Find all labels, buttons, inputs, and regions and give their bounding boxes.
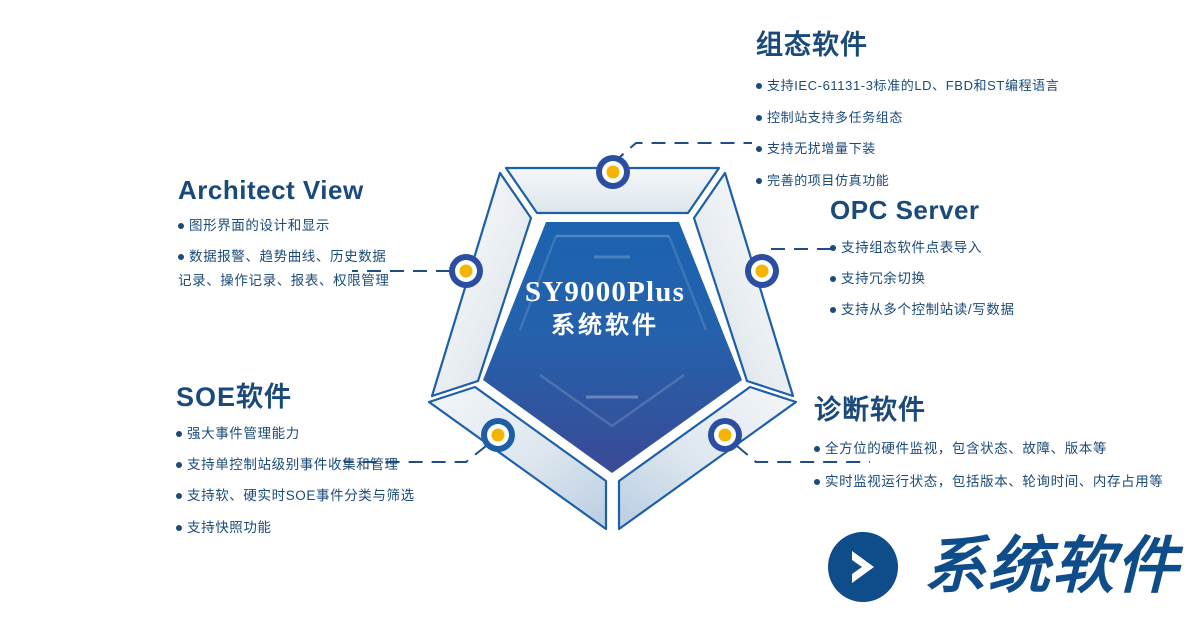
bullet-item: 支持从多个控制站读/写数据 — [830, 301, 1015, 319]
bullet-dot-icon — [830, 276, 836, 282]
bullet-item: 支持无扰增量下装 — [756, 140, 1059, 158]
bullet-text: 支持无扰增量下装 — [767, 140, 876, 158]
bullet-text: 全方位的硬件监视，包含状态、故障、版本等 — [825, 440, 1107, 458]
bullet-text: 支持从多个控制站读/写数据 — [841, 301, 1015, 319]
node-bottom-right[interactable] — [708, 418, 742, 452]
feature-bullets-opc: 支持组态软件点表导入 支持冗余切换 支持从多个控制站读/写数据 — [830, 239, 1015, 320]
bullet-dot-icon — [176, 462, 182, 468]
bullet-text: 强大事件管理能力 — [187, 425, 300, 443]
bullet-text-line1: 数据报警、趋势曲线、历史数据 — [189, 249, 386, 264]
bullet-dot-icon — [830, 245, 836, 251]
bullet-text: 支持软、硬实时SOE事件分类与筛选 — [187, 487, 415, 505]
bullet-item: 控制站支持多任务组态 — [756, 109, 1059, 127]
bullet-item: 完善的项目仿真功能 — [756, 172, 1059, 190]
bullet-dot-icon — [756, 115, 762, 121]
bullet-dot-icon — [176, 431, 182, 437]
bullet-dot-icon — [756, 83, 762, 89]
bullet-text: 支持单控制站级别事件收集和管理 — [187, 456, 399, 474]
bullet-item: 支持软、硬实时SOE事件分类与筛选 — [176, 487, 415, 505]
bullet-item: 全方位的硬件监视，包含状态、故障、版本等 — [814, 440, 1163, 458]
bullet-dot-icon — [814, 446, 820, 452]
connector-top — [613, 143, 752, 163]
bullet-item: 支持IEC-61131-3标准的LD、FBD和ST编程语言 — [756, 77, 1059, 95]
bullet-item: 支持单控制站级别事件收集和管理 — [176, 456, 415, 474]
brand-logo-text: 系统软件 — [924, 536, 1180, 598]
bullet-text: 支持IEC-61131-3标准的LD、FBD和ST编程语言 — [767, 77, 1059, 95]
bullet-text: 实时监视运行状态，包括版本、轮询时间、内存占用等 — [825, 473, 1163, 491]
bullet-item: 数据报警、趋势曲线、历史数据 记录、操作记录、报表、权限管理 — [178, 248, 390, 290]
feature-title-hmi: 组态软件 — [756, 32, 1059, 59]
feature-block-diagnostic: 诊断软件 全方位的硬件监视，包含状态、故障、版本等 实时监视运行状态，包括版本、… — [814, 397, 1163, 506]
feature-bullets-hmi: 支持IEC-61131-3标准的LD、FBD和ST编程语言 控制站支持多任务组态… — [756, 77, 1059, 189]
feature-bullets-diagnostic: 全方位的硬件监视，包含状态、故障、版本等 实时监视运行状态，包括版本、轮询时间、… — [814, 440, 1163, 491]
feature-title-soe: SOE软件 — [176, 384, 415, 411]
feature-title-architect: Architect View — [178, 177, 390, 203]
connector-right — [770, 249, 836, 271]
bullet-text: 数据报警、趋势曲线、历史数据 记录、操作记录、报表、权限管理 — [189, 248, 390, 290]
feature-block-hmi: 组态软件 支持IEC-61131-3标准的LD、FBD和ST编程语言 控制站支持… — [756, 32, 1059, 203]
bullet-dot-icon — [830, 307, 836, 313]
bullet-text-line2: 记录、操作记录、报表、权限管理 — [178, 272, 390, 290]
feature-title-diagnostic: 诊断软件 — [814, 397, 1163, 424]
bullet-dot-icon — [176, 525, 182, 531]
bullet-item: 支持组态软件点表导入 — [830, 239, 1015, 257]
infographic-canvas: SY9000Plus 系统软件 组态软件 支持IEC-61131-3标准的LD、… — [0, 0, 1200, 638]
bullet-text: 图形界面的设计和显示 — [189, 217, 330, 235]
bullet-dot-icon — [178, 254, 184, 260]
feature-block-soe: SOE软件 强大事件管理能力 支持单控制站级别事件收集和管理 支持软、硬实时SO… — [176, 384, 415, 550]
bullet-dot-icon — [178, 223, 184, 229]
feature-title-opc: OPC Server — [830, 197, 1015, 223]
bullet-item: 强大事件管理能力 — [176, 425, 415, 443]
node-top[interactable] — [596, 155, 630, 189]
feature-block-architect: Architect View 图形界面的设计和显示 数据报警、趋势曲线、历史数据… — [178, 177, 390, 304]
feature-bullets-architect: 图形界面的设计和显示 数据报警、趋势曲线、历史数据 记录、操作记录、报表、权限管… — [178, 217, 390, 291]
feature-bullets-soe: 强大事件管理能力 支持单控制站级别事件收集和管理 支持软、硬实时SOE事件分类与… — [176, 425, 415, 537]
bullet-dot-icon — [176, 493, 182, 499]
bullet-text: 完善的项目仿真功能 — [767, 172, 889, 190]
bullet-text: 支持组态软件点表导入 — [841, 239, 982, 257]
node-bottom-left[interactable] — [481, 418, 515, 452]
brand-logo: 系统软件 — [828, 532, 1180, 602]
bullet-item: 支持快照功能 — [176, 519, 415, 537]
bullet-item: 实时监视运行状态，包括版本、轮询时间、内存占用等 — [814, 473, 1163, 491]
bullet-dot-icon — [756, 146, 762, 152]
bullet-item: 支持冗余切换 — [830, 270, 1015, 288]
bullet-text: 控制站支持多任务组态 — [767, 109, 903, 127]
feature-block-opc: OPC Server 支持组态软件点表导入 支持冗余切换 支持从多个控制站读/写… — [830, 197, 1015, 333]
chevron-right-icon — [828, 532, 898, 602]
bullet-item: 图形界面的设计和显示 — [178, 217, 390, 235]
bullet-dot-icon — [814, 479, 820, 485]
node-left[interactable] — [449, 254, 483, 288]
bullet-text: 支持冗余切换 — [841, 270, 926, 288]
node-right[interactable] — [745, 254, 779, 288]
bullet-dot-icon — [756, 178, 762, 184]
bullet-text: 支持快照功能 — [187, 519, 272, 537]
